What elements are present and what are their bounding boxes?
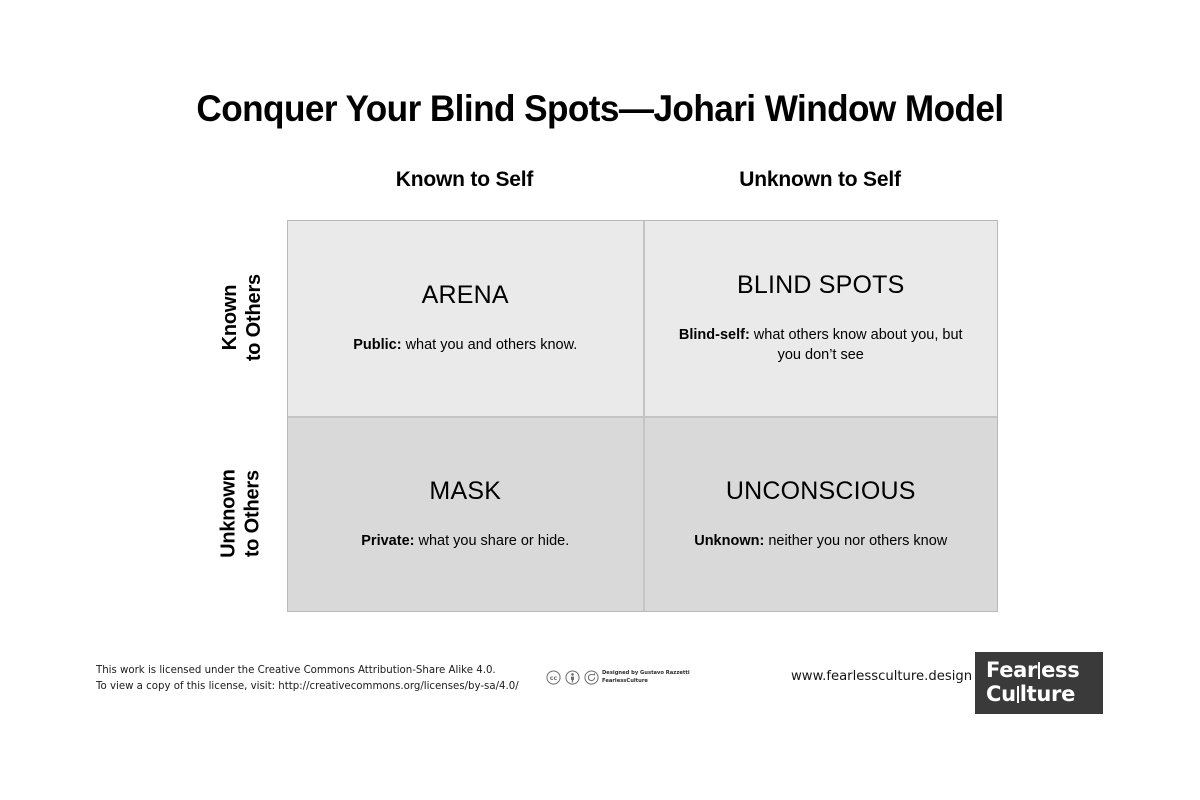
designer-credit-line1: Designed by Gustavo Razzetti bbox=[602, 669, 690, 677]
row-header-unknown-to-others: Unknown to Others bbox=[186, 416, 286, 612]
quadrant-arena-description: Public: what you and others know. bbox=[353, 336, 577, 356]
creative-commons-badges: cc bbox=[546, 670, 599, 690]
quadrant-unconscious: UNCONSCIOUS Unknown: neither you nor oth… bbox=[643, 416, 998, 611]
quadrant-blind-spots-title: BLIND SPOTS bbox=[737, 271, 905, 300]
quadrant-mask-description: Private: what you share or hide. bbox=[361, 532, 569, 552]
footer: This work is licensed under the Creative… bbox=[0, 640, 1200, 740]
quadrant-unconscious-label: Unknown: bbox=[694, 533, 764, 549]
row-header-known-to-others-line2: to Others bbox=[242, 274, 266, 361]
quadrant-arena-title: ARENA bbox=[422, 281, 509, 310]
logo-bar-icon bbox=[1038, 662, 1040, 679]
quadrant-blind-spots-text: what others know about you, but you don’… bbox=[750, 327, 963, 363]
logo-bar-icon-2 bbox=[1017, 686, 1019, 703]
logo-line2-part1: Cu bbox=[986, 682, 1016, 706]
designer-credit: Designed by Gustavo Razzetti FearlessCul… bbox=[602, 669, 690, 686]
row-header-unknown-to-others-line2: to Others bbox=[242, 470, 266, 559]
designer-credit-line2: FearlessCulture bbox=[602, 677, 690, 685]
quadrant-blind-spots: BLIND SPOTS Blind-self: what others know… bbox=[643, 221, 998, 416]
cc-by-icon bbox=[565, 670, 580, 690]
quadrant-mask: MASK Private: what you share or hide. bbox=[288, 416, 643, 611]
johari-window-grid: ARENA Public: what you and others know. … bbox=[287, 220, 998, 612]
quadrant-unconscious-description: Unknown: neither you nor others know bbox=[694, 532, 947, 552]
row-header-known-to-others: Known to Others bbox=[186, 220, 286, 416]
logo-line1-part1: Fear bbox=[986, 658, 1037, 682]
page-title: Conquer Your Blind Spots—Johari Window M… bbox=[30, 88, 1170, 130]
quadrant-blind-spots-label: Blind-self: bbox=[679, 327, 750, 343]
column-header-unknown-to-self: Unknown to Self bbox=[642, 168, 998, 192]
svg-text:cc: cc bbox=[550, 675, 558, 682]
logo-line2-part2: lture bbox=[1020, 682, 1075, 706]
quadrant-unconscious-title: UNCONSCIOUS bbox=[726, 477, 916, 506]
fearless-culture-logo: Fearess Culture bbox=[975, 652, 1103, 714]
quadrant-mask-label: Private: bbox=[361, 533, 414, 549]
quadrant-arena-text: what you and others know. bbox=[402, 337, 578, 353]
row-header-unknown-to-others-line1: Unknown bbox=[218, 470, 242, 559]
logo-line-1: Fearess bbox=[986, 659, 1103, 683]
column-header-known-to-self: Known to Self bbox=[287, 168, 642, 192]
license-text-line1: This work is licensed under the Creative… bbox=[96, 663, 519, 679]
quadrant-mask-text: what you share or hide. bbox=[414, 533, 569, 549]
quadrant-mask-title: MASK bbox=[429, 477, 501, 506]
logo-line1-part2: ess bbox=[1041, 658, 1079, 682]
quadrant-blind-spots-description: Blind-self: what others know about you, … bbox=[676, 326, 966, 365]
quadrant-arena-label: Public: bbox=[353, 337, 401, 353]
cc-share-alike-icon bbox=[584, 670, 599, 690]
cc-icon: cc bbox=[546, 670, 561, 690]
row-header-known-to-others-line1: Known bbox=[219, 274, 243, 361]
license-text-line2: To view a copy of this license, visit: h… bbox=[96, 679, 519, 695]
site-url[interactable]: www.fearlessculture.design bbox=[791, 669, 972, 684]
quadrant-unconscious-text: neither you nor others know bbox=[764, 533, 947, 549]
license-text: This work is licensed under the Creative… bbox=[96, 663, 519, 695]
logo-line-2: Culture bbox=[986, 683, 1103, 707]
quadrant-arena: ARENA Public: what you and others know. bbox=[288, 221, 643, 416]
